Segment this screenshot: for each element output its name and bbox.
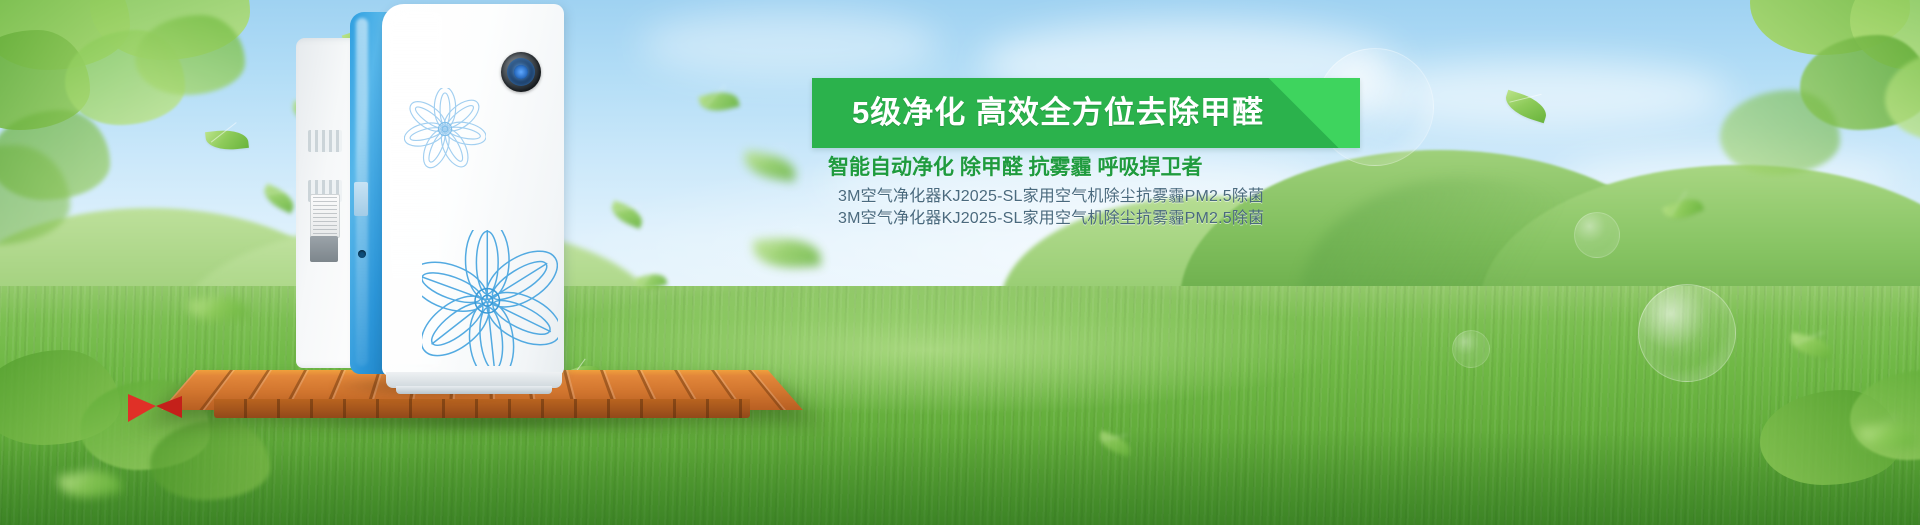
headline-bar: 5级净化 高效全方位去除甲醛 (812, 78, 1360, 148)
cloud (640, 10, 940, 80)
flower-decal-lower (422, 230, 558, 366)
grass-vignette (0, 430, 1920, 525)
purifier-rating-label (310, 194, 340, 238)
flower-decal-upper (404, 88, 486, 170)
air-purifier-product (296, 4, 564, 396)
product-description-line-2: 3M空气净化器KJ2025-SL家用空气机除尘抗雾霾PM2.5除菌 (838, 204, 1264, 228)
purifier-power-port (358, 250, 366, 258)
product-banner: 5级净化 高效全方位去除甲醛 智能自动净化 除甲醛 抗雾霾 呼吸捍卫者 3M空气… (0, 0, 1920, 525)
purifier-barcode-label (310, 236, 338, 262)
headline-text: 5级净化 高效全方位去除甲醛 (852, 78, 1264, 148)
purifier-feet (396, 386, 552, 394)
label-text-lines (313, 197, 337, 235)
headline-bar-accent-wedge (1248, 78, 1360, 148)
purifier-control-dial[interactable] (501, 52, 541, 92)
soap-bubble (1452, 330, 1490, 368)
purifier-side-sticker (354, 182, 368, 216)
red-ribbon-decor (126, 390, 184, 426)
soap-bubble (1638, 284, 1736, 382)
product-description-line-1: 3M空气净化器KJ2025-SL家用空气机除尘抗雾霾PM2.5除菌 (838, 182, 1264, 206)
purifier-vent (308, 130, 342, 152)
soap-bubble (1574, 212, 1620, 258)
subheadline-text: 智能自动净化 除甲醛 抗雾霾 呼吸捍卫者 (828, 151, 1203, 181)
